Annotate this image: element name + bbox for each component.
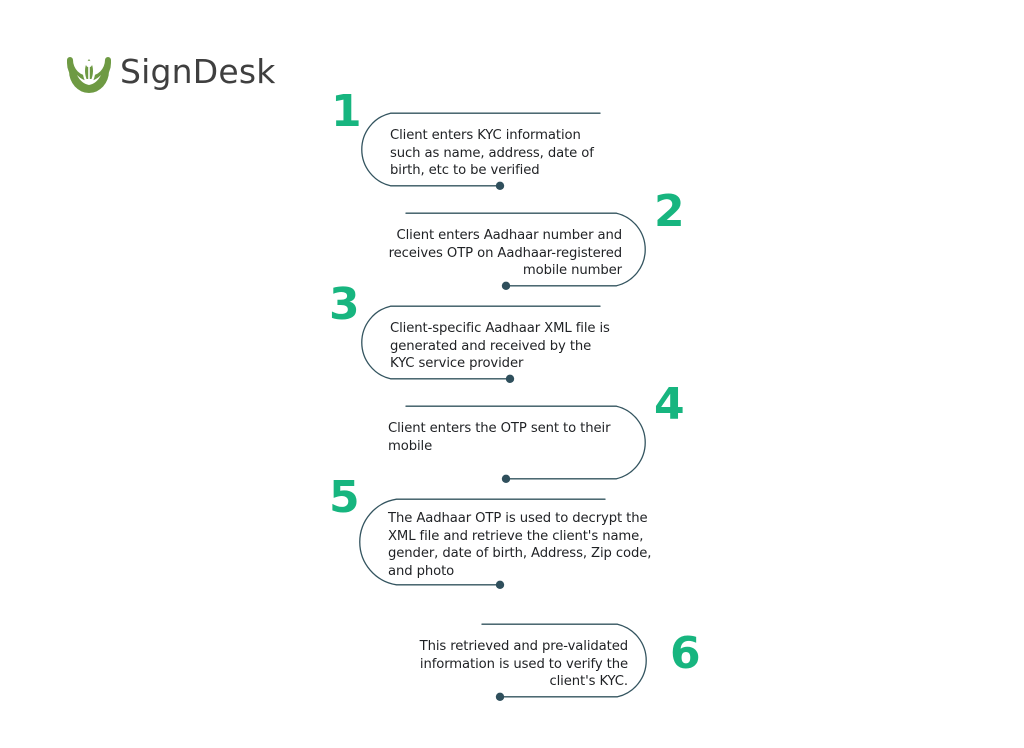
step-3-number: 3 <box>329 283 359 327</box>
step-1-endpoint-dot <box>496 182 504 190</box>
step-5-endpoint-dot <box>496 581 504 589</box>
step-4-endpoint-dot <box>502 475 510 483</box>
process-step-2: Client enters Aadhaar number and receive… <box>370 212 655 287</box>
step-4-text: Client enters the OTP sent to their mobi… <box>388 420 638 455</box>
step-2-number: 2 <box>654 190 684 234</box>
step-5-text: The Aadhaar OTP is used to decrypt the X… <box>388 510 660 580</box>
step-2-text: Client enters Aadhaar number and receive… <box>370 227 622 280</box>
infographic-canvas: SignDesk Client enters KYC information s… <box>0 0 1024 748</box>
step-5-number: 5 <box>329 476 359 520</box>
process-step-1: Client enters KYC information such as na… <box>352 112 652 187</box>
step-1-number: 1 <box>331 90 361 134</box>
brand-wordmark: SignDesk <box>120 55 276 88</box>
brand-logo: SignDesk <box>64 46 276 96</box>
step-6-endpoint-dot <box>496 693 504 701</box>
step-4-number: 4 <box>654 383 684 427</box>
step-6-number: 6 <box>670 632 700 676</box>
process-step-4: Client enters the OTP sent to their mobi… <box>370 405 655 480</box>
step-2-endpoint-dot <box>502 282 510 290</box>
process-step-3: Client-specific Aadhaar XML file is gene… <box>352 305 652 380</box>
process-step-5: The Aadhaar OTP is used to decrypt the X… <box>352 498 657 586</box>
signdesk-pen-nib-logo-icon <box>64 46 114 96</box>
step-3-text: Client-specific Aadhaar XML file is gene… <box>390 320 642 373</box>
step-6-text: This retrieved and pre-validated informa… <box>396 638 628 691</box>
process-step-6: This retrieved and pre-validated informa… <box>396 623 656 698</box>
step-3-endpoint-dot <box>506 375 514 383</box>
step-1-text: Client enters KYC information such as na… <box>390 127 638 180</box>
